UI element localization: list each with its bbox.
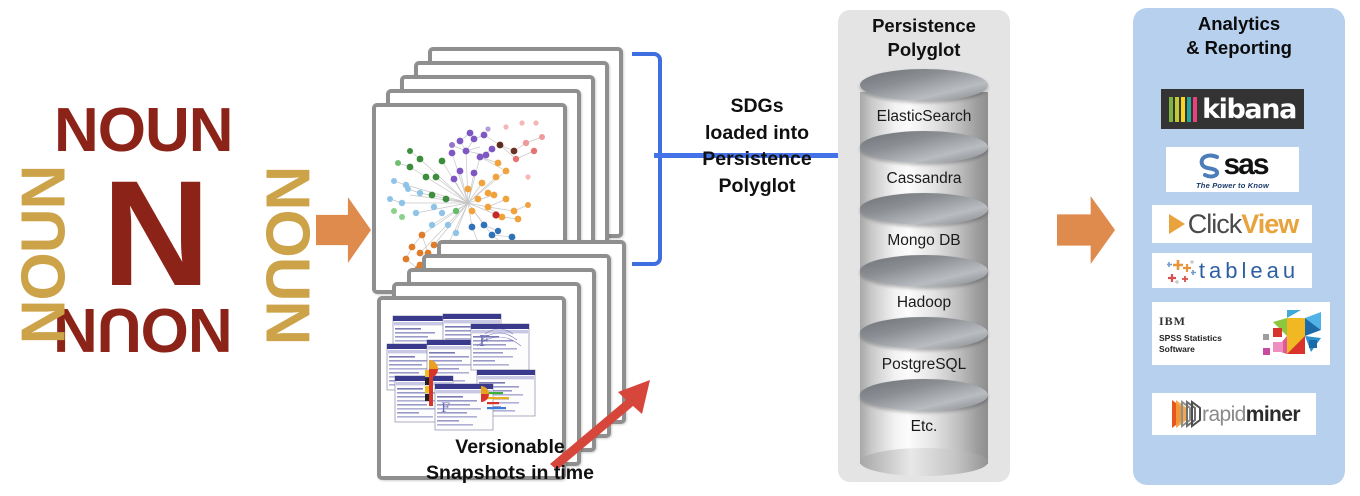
sas-logo: sas The Power to Know: [1166, 147, 1299, 192]
rapidminer-word-miner: miner: [1246, 404, 1300, 425]
sdg-label-line-1: SDGs: [664, 93, 850, 120]
db-label: Etc.: [860, 418, 988, 436]
analytics-title-line-1: Analytics: [1133, 12, 1345, 36]
versionable-line-1: Versionable: [385, 435, 635, 461]
persistence-title-line-1: Persistence: [838, 14, 1010, 38]
analytics-reporting-title: Analytics & Reporting: [1133, 12, 1345, 60]
spss-text-block: IBM SPSS Statistics Software: [1159, 312, 1222, 354]
kibana-logo: kibana: [1161, 89, 1304, 129]
db-label: Hadoop: [860, 294, 988, 312]
analytics-title-line-2: & Reporting: [1133, 36, 1345, 60]
spss-product-name: SPSS Statistics Software: [1159, 333, 1222, 354]
arrow-right-icon-persistence-to-analytics: [1057, 196, 1115, 264]
db-cylinder-top-ellipse: [860, 69, 988, 101]
sdg-label-line-3: Persistence: [664, 146, 850, 173]
versionable-line-2: Snapshots in time: [385, 461, 635, 487]
db-cylinder-top-ellipse: [860, 131, 988, 163]
ibm-spss-logo: IBM SPSS Statistics Software: [1152, 302, 1330, 365]
sas-swirl-icon: [1197, 151, 1223, 179]
kibana-bars-icon: [1169, 97, 1199, 122]
db-layer-etc: Etc.: [860, 392, 988, 464]
db-label: PostgreSQL: [860, 356, 988, 374]
database-cylinder-stack: ElasticSearch Cassandra Mongo DB Hadoop …: [860, 82, 988, 467]
tableau-wordmark: tableau: [1199, 260, 1299, 282]
clickview-logo: Click View: [1152, 205, 1312, 243]
db-label: ElasticSearch: [860, 108, 988, 126]
rapidminer-layers-icon: [1168, 398, 1202, 430]
noun-word-right: NOUN: [255, 166, 317, 345]
noun-word-left: NOUN: [13, 166, 75, 345]
noun-center-letter: N: [102, 158, 210, 308]
clickview-word-click: Click: [1188, 211, 1242, 238]
ibm-wordmark: IBM: [1159, 314, 1186, 328]
tableau-logo: tableau: [1152, 253, 1312, 288]
svg-text:F: F: [479, 332, 489, 350]
db-cylinder-top-ellipse: [860, 317, 988, 349]
sdg-label-line-4: Polyglot: [664, 173, 850, 200]
spss-pinwheel-icon: [1257, 308, 1323, 360]
rapidminer-logo: rapid miner: [1152, 393, 1316, 435]
db-cylinder-top-ellipse: [860, 379, 988, 411]
sas-mark-row: sas: [1197, 150, 1267, 180]
versionable-snapshots-label: Versionable Snapshots in time: [385, 435, 635, 486]
arrow-right-icon-source-to-snapshots: [316, 197, 371, 263]
noun-logo: NOUN NOUN NOUN NOUN N: [28, 100, 308, 360]
persistence-title-line-2: Polyglot: [838, 38, 1010, 62]
kibana-wordmark: kibana: [1202, 96, 1296, 123]
clickview-word-view: View: [1241, 211, 1298, 238]
db-label: Cassandra: [860, 170, 988, 188]
persistence-polyglot-title: Persistence Polyglot: [838, 14, 1010, 62]
sas-tagline: The Power to Know: [1196, 181, 1269, 190]
db-cylinder-top-ellipse: [860, 255, 988, 287]
play-triangle-icon: [1166, 211, 1188, 237]
tableau-plus-marks-icon: [1165, 256, 1199, 286]
svg-text:F: F: [441, 401, 450, 416]
grouping-bracket: [632, 52, 662, 266]
diagram-canvas: NOUN NOUN NOUN NOUN N: [0, 0, 1360, 496]
db-label: Mongo DB: [860, 232, 988, 250]
sdg-label-line-2: loaded into: [664, 120, 850, 147]
db-cylinder-top-ellipse: [860, 193, 988, 225]
sdg-loading-label: SDGs loaded into Persistence Polyglot: [664, 93, 850, 199]
spss-line-2: Software: [1159, 344, 1222, 355]
spss-line-1: SPSS Statistics: [1159, 333, 1222, 344]
sas-wordmark: sas: [1223, 150, 1267, 180]
rapidminer-word-rapid: rapid: [1202, 404, 1246, 425]
db-cylinder-bottom-ellipse: [860, 448, 988, 476]
